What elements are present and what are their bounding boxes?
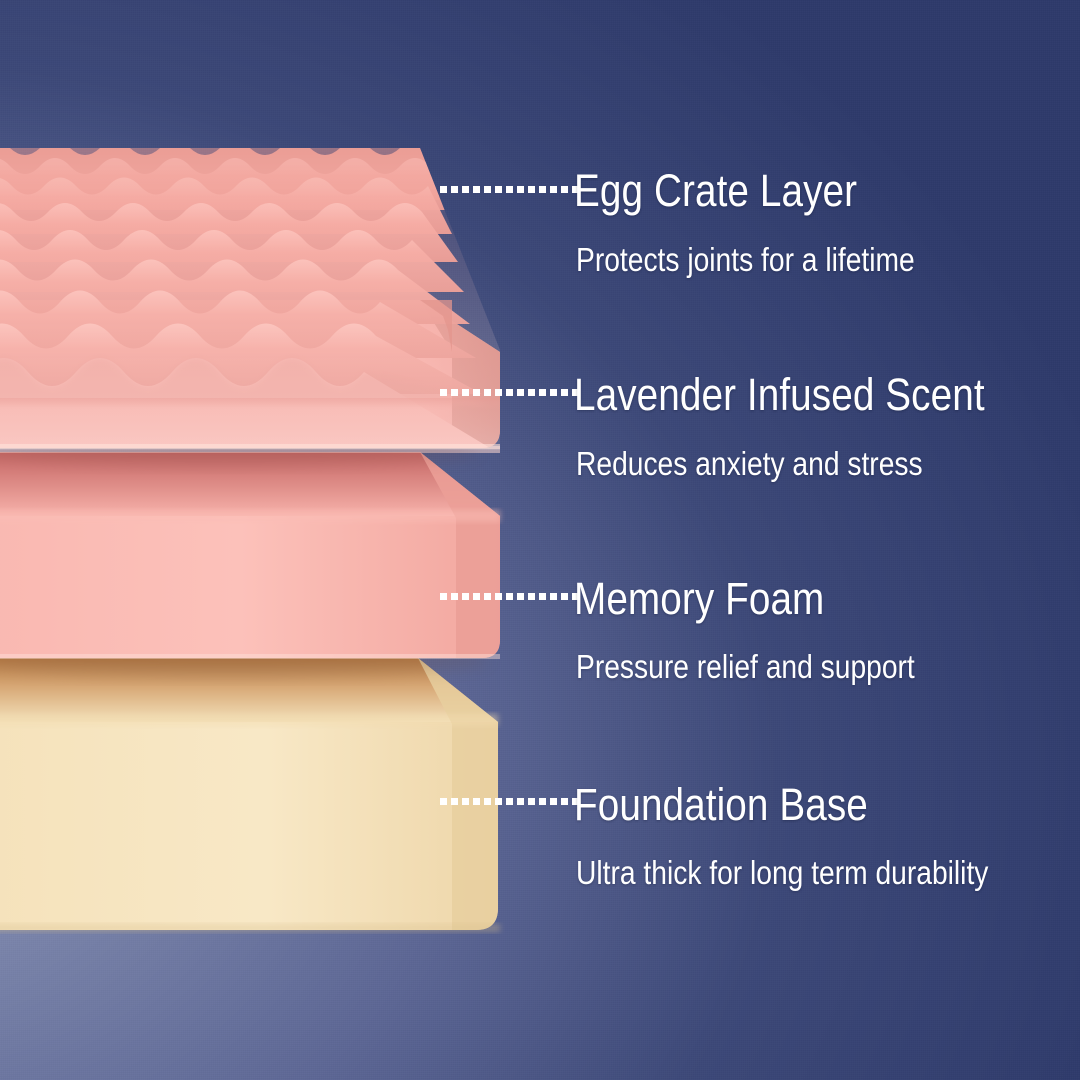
layer-subtitle-lavender-scent: Reduces anxiety and stress: [576, 445, 923, 483]
mattress-layer-stack: [0, 0, 540, 1080]
layer-title-egg-crate: Egg Crate Layer: [574, 166, 857, 216]
layer-gap-1: [0, 444, 500, 449]
leader-line-egg-crate: [440, 186, 579, 193]
layer-foundation-base: [0, 658, 500, 932]
layer-subtitle-memory-foam: Pressure relief and support: [576, 648, 915, 686]
infographic-canvas: Egg Crate Layer Protects joints for a li…: [0, 0, 1080, 1080]
layer-memory-foam: [0, 446, 500, 676]
leader-line-lavender-scent: [440, 389, 579, 396]
leader-line-foundation-base: [440, 798, 579, 805]
layer-subtitle-egg-crate: Protects joints for a lifetime: [576, 241, 915, 279]
layer-subtitle-foundation-base: Ultra thick for long term durability: [576, 854, 988, 892]
layer-title-memory-foam: Memory Foam: [574, 574, 824, 624]
layer-gap-2: [0, 654, 500, 659]
layer-lavender-scent: [0, 404, 452, 448]
layer-title-lavender-scent: Lavender Infused Scent: [574, 370, 985, 420]
leader-line-memory-foam: [440, 593, 579, 600]
layer-title-foundation-base: Foundation Base: [574, 780, 868, 830]
